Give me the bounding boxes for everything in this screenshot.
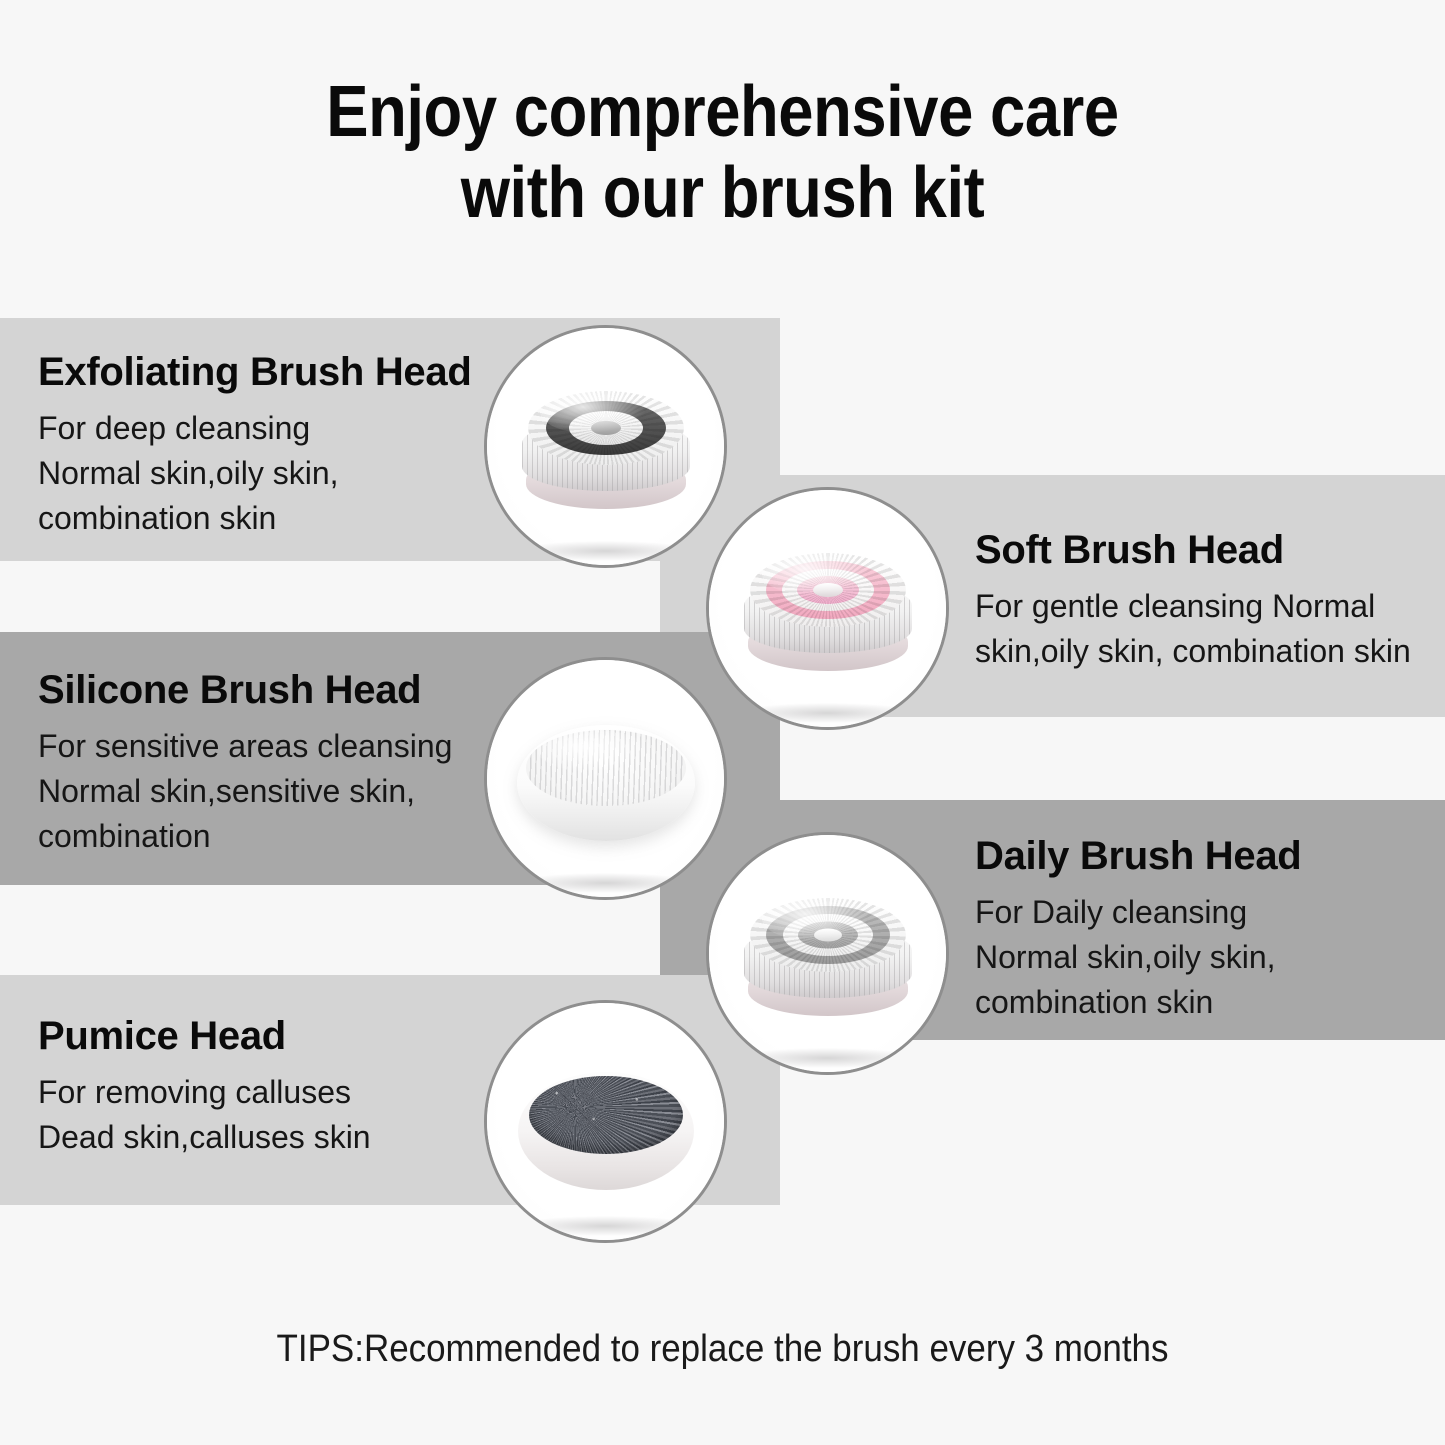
feature-line: For sensitive areas cleansing: [38, 724, 508, 769]
daily-brush-head-photo: [706, 832, 949, 1075]
bristle-ring-core: [813, 583, 843, 597]
feature-line: Normal skin,oily skin,: [38, 451, 508, 496]
drop-shadow: [737, 703, 917, 723]
feature-heading: Silicone Brush Head: [38, 670, 508, 710]
drop-shadow: [515, 541, 695, 561]
page-title-line-1: Enjoy comprehensive care: [87, 72, 1359, 153]
drop-shadow: [737, 1048, 917, 1068]
feature-line: combination skin: [38, 496, 508, 541]
feature-text-exfoliating: Exfoliating Brush Head For deep cleansin…: [38, 352, 508, 540]
feature-text-daily: Daily Brush Head For Daily cleansing Nor…: [975, 836, 1435, 1024]
silicone-disc: [517, 725, 695, 841]
feature-line: Normal skin,oily skin,: [975, 935, 1435, 980]
feature-line: For deep cleansing: [38, 406, 508, 451]
feature-line: Dead skin,calluses skin: [38, 1115, 508, 1160]
page-title: Enjoy comprehensive care with our brush …: [87, 72, 1359, 233]
silicone-nub-surface: [526, 730, 686, 806]
drop-shadow: [515, 1216, 695, 1236]
bristle-ring-core: [591, 421, 621, 435]
tips-footer: TIPS:Recommended to replace the brush ev…: [58, 1328, 1387, 1371]
silicone-brush-head-photo: [484, 657, 727, 900]
feature-line: combination skin: [975, 980, 1435, 1025]
brush-head-illustration: [520, 385, 692, 509]
feature-line: combination: [38, 814, 508, 859]
page-title-line-2: with our brush kit: [87, 153, 1359, 234]
pumice-stone-surface: [529, 1076, 683, 1154]
product-infographic: Enjoy comprehensive care with our brush …: [0, 0, 1445, 1445]
feature-heading: Exfoliating Brush Head: [38, 352, 508, 392]
drop-shadow: [515, 873, 695, 893]
feature-line: For gentle cleansing Normal: [975, 584, 1435, 629]
brush-head-illustration: [742, 547, 914, 671]
exfoliating-brush-head-photo: [484, 325, 727, 568]
brush-head-illustration: [742, 892, 914, 1016]
brush-top-face: [750, 898, 906, 972]
feature-line: skin,oily skin, combination skin: [975, 629, 1435, 674]
brush-top-face: [750, 553, 906, 627]
feature-heading: Pumice Head: [38, 1016, 508, 1056]
feature-heading: Soft Brush Head: [975, 530, 1435, 570]
pumice-base: [518, 1072, 694, 1190]
feature-line: For removing calluses: [38, 1070, 508, 1115]
feature-line: Normal skin,sensitive skin,: [38, 769, 508, 814]
bristle-ring-core: [814, 928, 842, 941]
feature-line: For Daily cleansing: [975, 890, 1435, 935]
feature-text-pumice: Pumice Head For removing calluses Dead s…: [38, 1016, 508, 1160]
feature-text-soft: Soft Brush Head For gentle cleansing Nor…: [975, 530, 1435, 674]
pumice-head-photo: [484, 1000, 727, 1243]
brush-top-face: [528, 391, 684, 465]
feature-text-silicone: Silicone Brush Head For sensitive areas …: [38, 670, 508, 858]
feature-heading: Daily Brush Head: [975, 836, 1435, 876]
soft-brush-head-photo: [706, 487, 949, 730]
